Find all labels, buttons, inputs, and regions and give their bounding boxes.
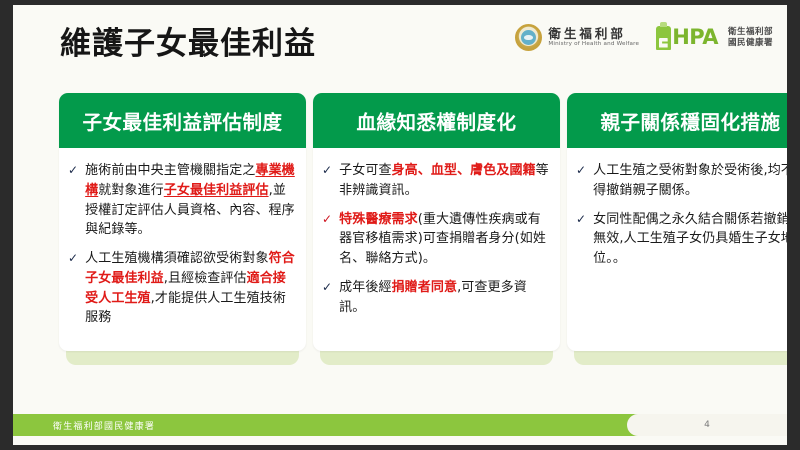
content-card: 子女最佳利益評估制度✓施術前由中央主管機關指定之專業機構就對象進行子女最佳利益評… <box>59 93 306 365</box>
mohw-logo: 衛生福利部 Ministry of Health and Welfare <box>515 24 639 51</box>
list-item-text: 特殊醫療需求(重大遺傳性疾病或有器官移植需求)可查捐贈者身分(如姓名、聯絡方式)… <box>339 210 550 269</box>
card-header: 子女最佳利益評估制度 <box>59 93 306 148</box>
bullet-list: ✓子女可查身高、血型、膚色及國籍等非辨識資訊。✓特殊醫療需求(重大遺傳性疾病或有… <box>313 148 560 329</box>
list-item-text: 施術前由中央主管機關指定之專業機構就對象進行子女最佳利益評估,並授權訂定評估人員… <box>85 161 296 240</box>
highlighted-text-run: 捐贈者同意 <box>392 280 458 295</box>
hpa-letters: HPA <box>672 27 718 48</box>
highlighted-text-run: 特殊醫療需求 <box>339 212 418 227</box>
bullet-list: ✓施術前由中央主管機關指定之專業機構就對象進行子女最佳利益評估,並授權訂定評估人… <box>59 148 306 340</box>
checkmark-icon: ✓ <box>68 161 78 240</box>
text-run: 成年後經 <box>339 280 391 295</box>
list-item: ✓成年後經捐贈者同意,可查更多資訊。 <box>322 278 550 318</box>
hpa-mark: HPA <box>656 26 718 50</box>
mohw-seal-icon <box>515 24 542 51</box>
text-run: 人工生殖機構須確認欲受術對象 <box>85 251 268 266</box>
footer-bar: 衛生福利部國民健康署 4 <box>13 414 787 436</box>
content-card: 血緣知悉權制度化✓子女可查身高、血型、膚色及國籍等非辨識資訊。✓特殊醫療需求(重… <box>313 93 560 365</box>
content-card: 親子關係穩固化措施✓人工生殖之受術對象於受術後,均不得撤銷親子關係。✓女同性配偶… <box>567 93 787 365</box>
highlighted-text-run: 子女最佳利益評估 <box>164 183 269 198</box>
checkmark-icon: ✓ <box>68 249 78 328</box>
page-title: 維護子女最佳利益 <box>60 27 316 63</box>
hpa-subtitle-line1: 衛生福利部 <box>728 27 773 38</box>
list-item: ✓施術前由中央主管機關指定之專業機構就對象進行子女最佳利益評估,並授權訂定評估人… <box>68 161 296 240</box>
text-run: 施術前由中央主管機關指定之 <box>85 163 255 178</box>
mohw-name-zh: 衛生福利部 <box>548 27 639 40</box>
text-run: 女同性配偶之永久結合關係若撤銷或無效,人工生殖子女仍具婚生子女地位。。 <box>593 212 787 267</box>
slide-frame: 維護子女最佳利益 衛生福利部 Ministry of Health and We… <box>13 5 787 445</box>
mohw-logo-text: 衛生福利部 Ministry of Health and Welfare <box>548 27 639 48</box>
page-number-pill: 4 <box>627 414 787 436</box>
page-number: 4 <box>704 420 710 430</box>
card-body: 子女最佳利益評估制度✓施術前由中央主管機關指定之專業機構就對象進行子女最佳利益評… <box>59 93 306 351</box>
list-item-text: 人工生殖之受術對象於受術後,均不得撤銷親子關係。 <box>593 161 787 201</box>
checkmark-icon: ✓ <box>322 278 332 318</box>
checkmark-icon: ✓ <box>576 210 586 269</box>
card-body: 親子關係穩固化措施✓人工生殖之受術對象於受術後,均不得撤銷親子關係。✓女同性配偶… <box>567 93 787 351</box>
card-body: 血緣知悉權制度化✓子女可查身高、血型、膚色及國籍等非辨識資訊。✓特殊醫療需求(重… <box>313 93 560 351</box>
hpa-building-icon <box>656 26 671 50</box>
checkmark-icon: ✓ <box>322 161 332 201</box>
list-item-text: 人工生殖機構須確認欲受術對象符合子女最佳利益,且經檢查評估適合接受人工生殖,才能… <box>85 249 296 328</box>
list-item: ✓特殊醫療需求(重大遺傳性疾病或有器官移植需求)可查捐贈者身分(如姓名、聯絡方式… <box>322 210 550 269</box>
text-run: ,且經檢查評估 <box>164 271 247 286</box>
list-item: ✓女同性配偶之永久結合關係若撤銷或無效,人工生殖子女仍具婚生子女地位。。 <box>576 210 787 269</box>
logo-group: 衛生福利部 Ministry of Health and Welfare HPA… <box>515 24 773 51</box>
content-columns: 子女最佳利益評估制度✓施術前由中央主管機關指定之專業機構就對象進行子女最佳利益評… <box>59 93 787 365</box>
card-header: 親子關係穩固化措施 <box>567 93 787 148</box>
checkmark-icon: ✓ <box>576 161 586 201</box>
list-item: ✓子女可查身高、血型、膚色及國籍等非辨識資訊。 <box>322 161 550 201</box>
text-run: 人工生殖之受術對象於受術後,均不得撤銷親子關係。 <box>593 163 787 198</box>
card-header: 血緣知悉權制度化 <box>313 93 560 148</box>
text-run: 就對象進行 <box>98 183 164 198</box>
list-item: ✓人工生殖之受術對象於受術後,均不得撤銷親子關係。 <box>576 161 787 201</box>
checkmark-icon: ✓ <box>322 210 332 269</box>
text-run: 子女可查 <box>339 163 391 178</box>
mohw-name-en: Ministry of Health and Welfare <box>548 42 639 48</box>
hpa-subtitle-line2: 國民健康署 <box>728 38 773 49</box>
list-item: ✓人工生殖機構須確認欲受術對象符合子女最佳利益,且經檢查評估適合接受人工生殖,才… <box>68 249 296 328</box>
highlighted-text-run: 身高、血型、膚色及國籍 <box>392 163 536 178</box>
list-item-text: 成年後經捐贈者同意,可查更多資訊。 <box>339 278 550 318</box>
hpa-logo: HPA 衛生福利部 國民健康署 <box>656 26 773 50</box>
list-item-text: 女同性配偶之永久結合關係若撤銷或無效,人工生殖子女仍具婚生子女地位。。 <box>593 210 787 269</box>
footer-organization-label: 衛生福利部國民健康署 <box>53 414 155 436</box>
list-item-text: 子女可查身高、血型、膚色及國籍等非辨識資訊。 <box>339 161 550 201</box>
bullet-list: ✓人工生殖之受術對象於受術後,均不得撤銷親子關係。✓女同性配偶之永久結合關係若撤… <box>567 148 787 281</box>
hpa-subtitle: 衛生福利部 國民健康署 <box>728 27 773 48</box>
